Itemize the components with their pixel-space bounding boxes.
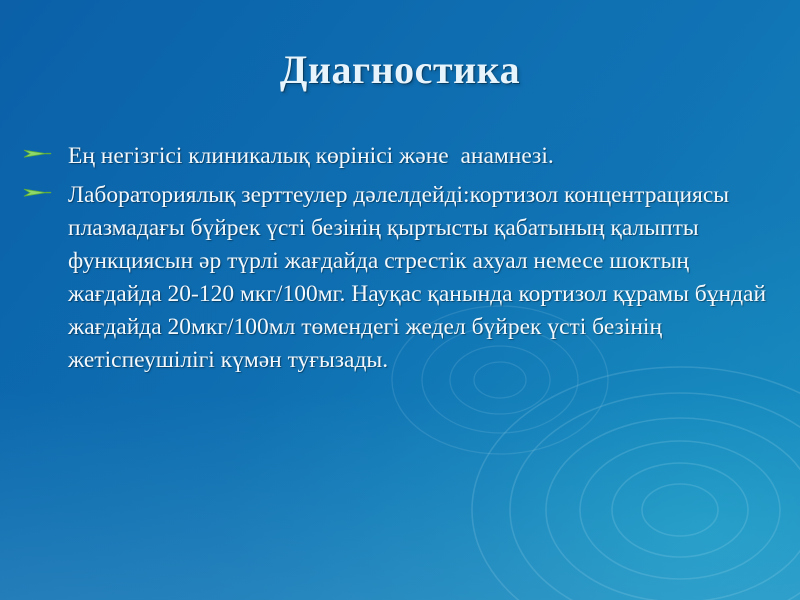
list-item-label: Лабораториялық зерттеулер дәлелдейді:кор… [68,179,776,377]
green-arrow-bullet-icon [22,179,68,201]
slide-body: Ең негізгісі клиникалық көрінісі және ан… [22,140,776,383]
list-item-label: Ең негізгісі клиникалық көрінісі және ан… [68,140,776,173]
slide-title: Диагностика [0,46,800,93]
presentation-slide: Диагностика Ең негізгісі клиникалық көрі… [0,0,800,600]
slide-sheen-overlay [0,390,800,600]
green-arrow-bullet-icon [22,140,68,162]
list-item: Ең негізгісі клиникалық көрінісі және ан… [22,140,776,173]
list-item: Лабораториялық зерттеулер дәлелдейді:кор… [22,179,776,377]
